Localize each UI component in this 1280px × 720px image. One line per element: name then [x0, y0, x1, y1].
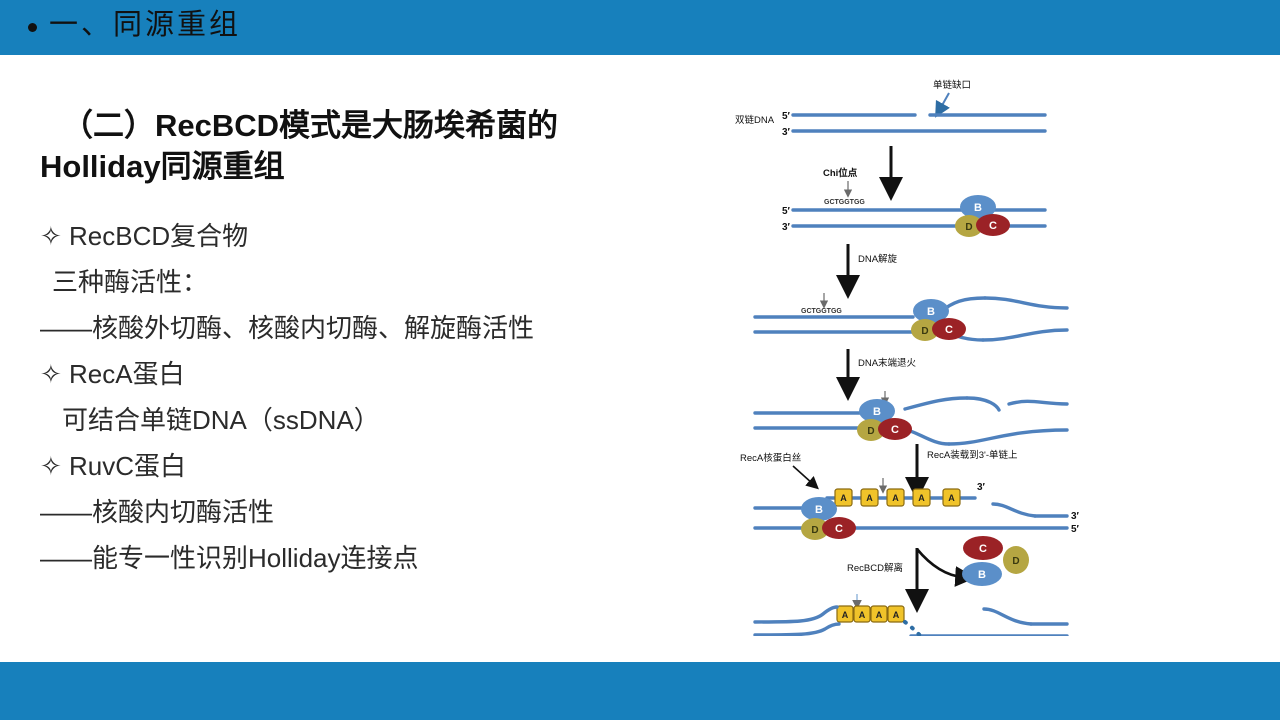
protein-b-label: B	[815, 504, 823, 516]
step-label-anneal: DNA末端退火	[858, 357, 917, 369]
reca-filament-pointer-arrow	[793, 466, 813, 484]
label-chi-sequence-p3: GCTGGTGG	[801, 308, 842, 315]
dna-unwound-upper-tail-p3	[985, 298, 1067, 308]
dna-loop-upper-tail-p4	[1009, 401, 1067, 404]
label-nick: 单链缺口	[933, 79, 971, 91]
svg-text:A: A	[859, 610, 866, 620]
recbcd-complex-p2: B D C	[955, 195, 1010, 237]
protein-c-label: C	[945, 324, 953, 336]
prime-3-p5-top: 3′	[977, 482, 986, 493]
protein-d-label: D	[867, 426, 874, 437]
dna-unwound-lower-tail-p3	[983, 330, 1067, 340]
recbcd-pathway-diagram: .dnaline { stroke:#4F81BD; stroke-width:…	[735, 66, 1087, 636]
content-left-column: （二）RecBCD模式是大肠埃希菌的 Holliday同源重组 ✧ RecBCD…	[40, 105, 720, 581]
prime-5-p1: 5′	[782, 111, 791, 122]
slide-root: 一、同源重组 （二）RecBCD模式是大肠埃希菌的 Holliday同源重组 ✧…	[0, 0, 1280, 720]
reca-monomer: A	[835, 489, 852, 506]
section-heading-line-2: Holliday同源重组	[40, 146, 720, 187]
step-label-unwind: DNA解旋	[858, 253, 898, 265]
list-item: ✧ RecBCD复合物	[40, 213, 720, 259]
svg-text:A: A	[866, 493, 873, 503]
dna-loop-lower-tail-p4	[949, 430, 1067, 444]
protein-b-label: B	[927, 306, 935, 318]
svg-text:A: A	[842, 610, 849, 620]
reca-monomer: A	[943, 489, 960, 506]
section-heading-line-1: （二）RecBCD模式是大肠埃希菌的	[40, 105, 720, 146]
protein-c-label: C	[989, 220, 997, 232]
protein-b-label: B	[873, 406, 881, 418]
reca-monomer: A	[837, 606, 853, 622]
svg-text:A: A	[892, 493, 899, 503]
svg-text:A: A	[918, 493, 925, 503]
reca-monomer: A	[888, 606, 904, 622]
prime-3-p1: 3′	[782, 127, 791, 138]
reca-monomer: A	[887, 489, 904, 506]
slide-header-inner: 一、同源重组	[28, 8, 241, 42]
protein-b-label: B	[974, 202, 982, 214]
dna-strand-lower-p6	[755, 624, 839, 635]
nick-pointer-arrow	[940, 93, 949, 109]
list-item: 可结合单链DNA（ssDNA）	[40, 397, 720, 443]
step-label-reca-load: RecA装载到3'-单链上	[927, 449, 1018, 461]
label-chi-sequence: GCTGGTGG	[824, 199, 865, 206]
released-proteins: C D B	[962, 536, 1029, 586]
section-heading: （二）RecBCD模式是大肠埃希菌的 Holliday同源重组	[40, 105, 720, 187]
invading-strand-dotted-path	[905, 622, 987, 636]
prime-5-p5-right: 5′	[1071, 524, 1080, 535]
release-curve-arrow	[917, 549, 963, 577]
protein-d-label: D	[811, 525, 818, 536]
reca-monomer: A	[861, 489, 878, 506]
dna-loop-upper-p4	[905, 398, 967, 409]
page-title: 一、同源重组	[49, 8, 241, 42]
list-item: ✧ RuvC蛋白	[40, 443, 720, 489]
prime-3-p2: 3′	[782, 222, 791, 233]
recbcd-complex-p4: B D C	[857, 399, 912, 441]
list-item: ✧ RecA蛋白	[40, 351, 720, 397]
protein-c-label: C	[891, 424, 899, 436]
label-dsdna: 双链DNA	[735, 114, 775, 126]
svg-text:A: A	[840, 493, 847, 503]
prime-3-p5-right: 3′	[1071, 511, 1080, 522]
reca-monomer: A	[913, 489, 930, 506]
list-item: ——核酸外切酶、核酸内切酶、解旋酶活性	[40, 305, 720, 351]
protein-b-label: B	[978, 569, 986, 581]
label-chi-site: Chi位点	[823, 167, 858, 179]
label-reca-filament: RecA核蛋白丝	[740, 452, 801, 464]
list-item: ——核酸内切酶活性	[40, 489, 720, 535]
dna-strand-invading-p6	[755, 607, 837, 622]
recbcd-complex-p3: B D C	[911, 299, 966, 341]
list-item: 三种酶活性：	[40, 259, 720, 305]
reca-block-row: A A A A	[837, 606, 904, 622]
protein-d-label: D	[921, 326, 928, 337]
reca-monomer: A	[854, 606, 870, 622]
slide-footer-band	[0, 662, 1280, 720]
protein-d-label: D	[1012, 556, 1019, 567]
svg-text:A: A	[876, 610, 883, 620]
list-item: ——能专一性识别Holliday连接点	[40, 535, 720, 581]
prime-5-p2: 5′	[782, 206, 791, 217]
dna-loop-upper-b-p4	[967, 398, 999, 410]
protein-d-label: D	[965, 222, 972, 233]
dna-displaced-p6	[984, 609, 1031, 624]
protein-c-label: C	[835, 523, 843, 535]
protein-c-label: C	[979, 543, 987, 555]
reca-monomer: A	[871, 606, 887, 622]
header-bullet-icon	[28, 23, 37, 32]
body-bullet-list: ✧ RecBCD复合物 三种酶活性： ——核酸外切酶、核酸内切酶、解旋酶活性 ✧…	[40, 213, 720, 581]
svg-text:A: A	[893, 610, 900, 620]
slide-header-band: 一、同源重组	[0, 0, 1280, 55]
step-label-recbcd-release: RecBCD解离	[847, 562, 903, 574]
dna-displaced-p5	[993, 504, 1035, 516]
svg-text:A: A	[948, 493, 955, 503]
